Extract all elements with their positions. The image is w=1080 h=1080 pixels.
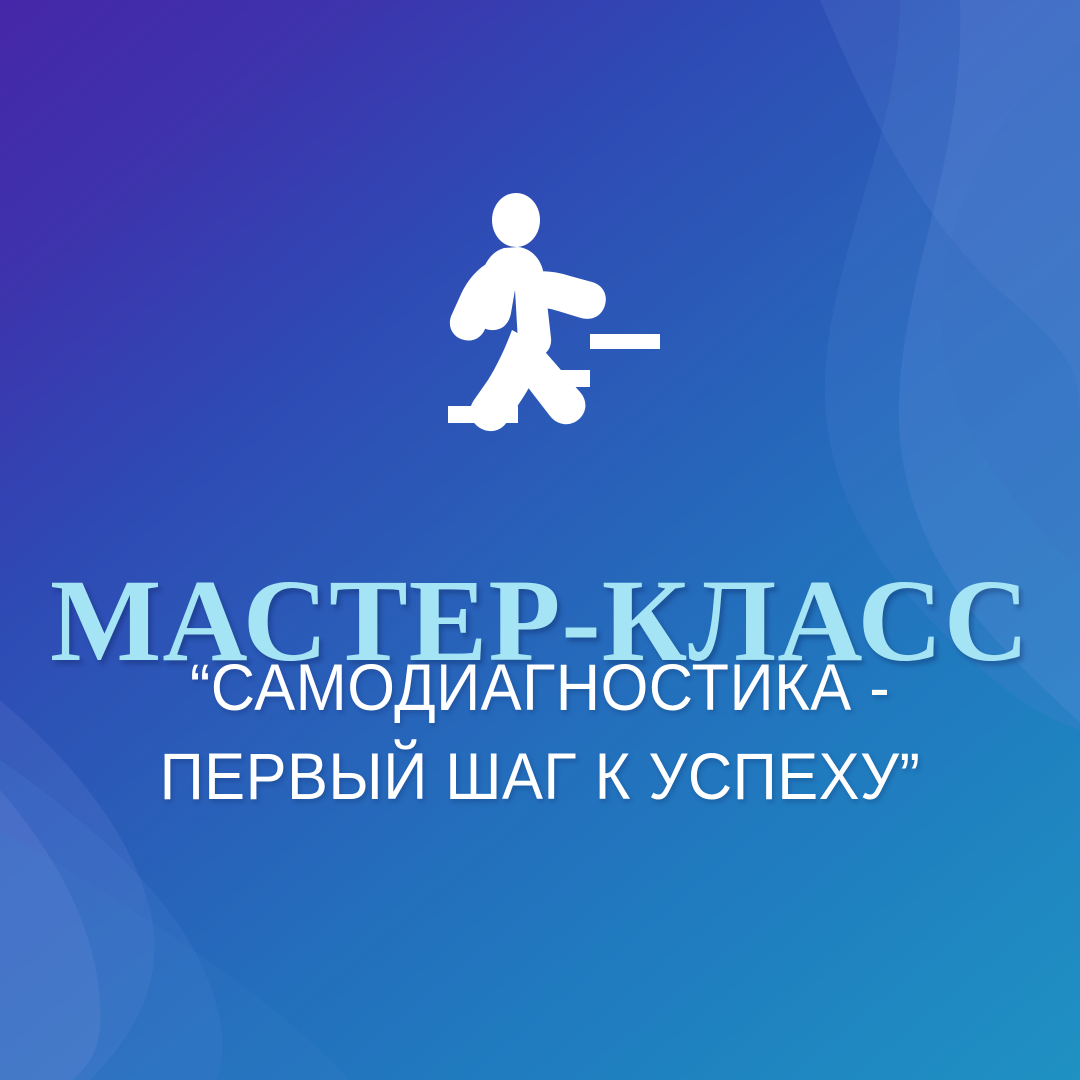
poster-subtitle: “САМОДИАГНОСТИКА - ПЕРВЫЙ ШАГ К УСПЕХУ” <box>0 643 1080 821</box>
decor-wave-tr-4 <box>941 40 1080 572</box>
stair-step-1 <box>448 406 518 423</box>
decor-wave-bl-3 <box>0 790 101 1080</box>
stair-step-3 <box>590 334 660 349</box>
decor-wave-bl-4 <box>0 830 348 1080</box>
figure-head <box>492 193 540 247</box>
decor-wave-tr-1 <box>820 0 1080 420</box>
poster-subtitle-line-2: ПЕРВЫЙ ШАГ К УСПЕХУ” <box>38 732 1042 821</box>
poster-subtitle-line-1: “САМОДИАГНОСТИКА - <box>38 643 1042 732</box>
background-decoration <box>0 0 1080 1080</box>
person-climbing-stairs-icon <box>440 190 670 440</box>
stair-step-2 <box>520 370 590 387</box>
poster-canvas: МАСТЕР-КЛАСС “САМОДИАГНОСТИКА - ПЕРВЫЙ Ш… <box>0 0 1080 1080</box>
